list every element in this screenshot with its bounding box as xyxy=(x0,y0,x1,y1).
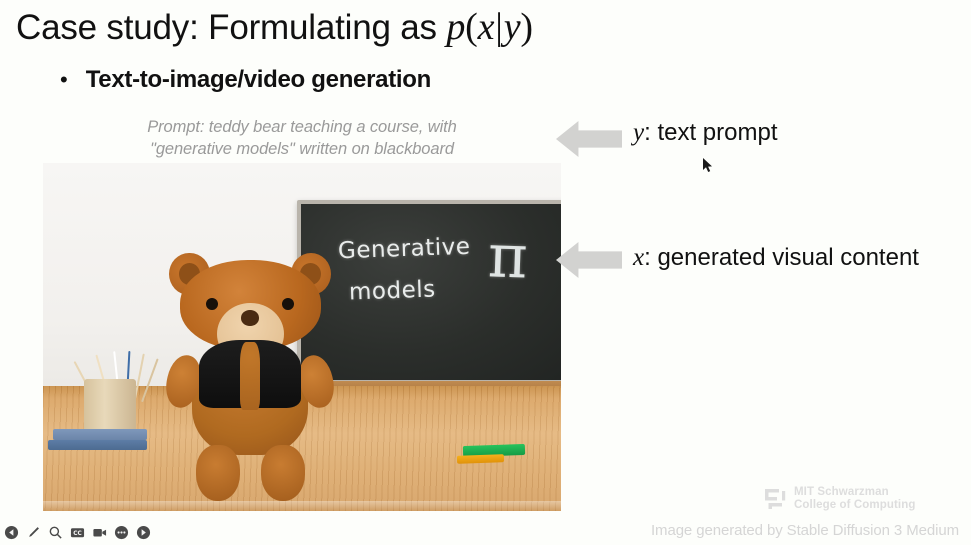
math-close-paren: ) xyxy=(520,6,532,48)
image-credit-text: Image generated by Stable Diffusion 3 Me… xyxy=(651,522,959,539)
generated-image: Generative models π xyxy=(43,163,561,511)
mit-schwarzman-mark-icon xyxy=(762,486,788,512)
bear-leg-right xyxy=(261,445,305,500)
mit-logo-line-1: MIT Schwarzman xyxy=(794,486,915,499)
pen-icon[interactable] xyxy=(26,525,41,540)
more-ellipsis-icon[interactable] xyxy=(114,525,129,540)
slide-canvas: Case study: Formulating as p(x|y) • Text… xyxy=(0,0,971,545)
annotation-label-x: x: generated visual content xyxy=(633,243,919,273)
pencil-cup xyxy=(84,379,136,435)
bear-vest xyxy=(199,340,301,408)
back-arrow-circle-icon[interactable] xyxy=(4,525,19,540)
title-text: Case study: Formulating as xyxy=(16,8,446,47)
search-icon[interactable] xyxy=(48,525,63,540)
desk-edge xyxy=(43,501,561,511)
annotation-label-y: y: text prompt xyxy=(633,118,778,148)
bear-vest-opening xyxy=(240,342,260,410)
annotation-symbol-y: y xyxy=(633,119,644,146)
bullet-item: • Text-to-image/video generation xyxy=(60,66,431,94)
math-conditional-bar: | xyxy=(494,6,503,48)
blackboard-symbol: π xyxy=(487,221,529,292)
mouse-pointer-icon xyxy=(703,158,714,173)
bullet-label: Text-to-image/video generation xyxy=(86,66,431,94)
presentation-toolbar: CC xyxy=(4,525,151,540)
math-y: y xyxy=(504,6,521,48)
arrow-left-icon-y xyxy=(556,121,622,157)
math-open-paren: ( xyxy=(465,6,477,48)
svg-text:CC: CC xyxy=(73,531,82,537)
math-x: x xyxy=(478,6,495,48)
title-math-expression: p(x|y) xyxy=(446,6,533,48)
books-stack-top xyxy=(53,429,146,440)
mit-schwarzman-logo: MIT Schwarzman College of Computing xyxy=(762,486,915,512)
prompt-caption: Prompt: teddy bear teaching a course, wi… xyxy=(43,116,561,160)
forward-arrow-circle-icon[interactable] xyxy=(136,525,151,540)
page-title: Case study: Formulating as p(x|y) xyxy=(16,2,533,53)
annotation-symbol-x: x xyxy=(633,244,644,271)
blackboard-text-line-2: models xyxy=(348,276,435,305)
prompt-caption-line-1: Prompt: teddy bear teaching a course, wi… xyxy=(43,116,561,138)
arrow-left-icon-x xyxy=(556,242,622,278)
closed-captions-icon[interactable]: CC xyxy=(70,525,85,540)
books-stack-bottom xyxy=(48,440,146,450)
annotation-text-x: : generated visual content xyxy=(644,244,919,271)
bear-nose xyxy=(241,310,259,326)
video-camera-icon[interactable] xyxy=(92,525,107,540)
math-p: p xyxy=(446,6,465,48)
teddy-bear xyxy=(162,250,338,501)
mit-logo-line-2: College of Computing xyxy=(794,499,915,512)
annotation-text-y: : text prompt xyxy=(644,119,777,146)
bullet-dot-icon: • xyxy=(60,69,68,91)
prompt-caption-line-2: "generative models" written on blackboar… xyxy=(43,138,561,160)
blackboard-text-line-1: Generative xyxy=(338,234,471,265)
mit-logo-text: MIT Schwarzman College of Computing xyxy=(794,486,915,512)
bear-leg-left xyxy=(196,445,240,500)
